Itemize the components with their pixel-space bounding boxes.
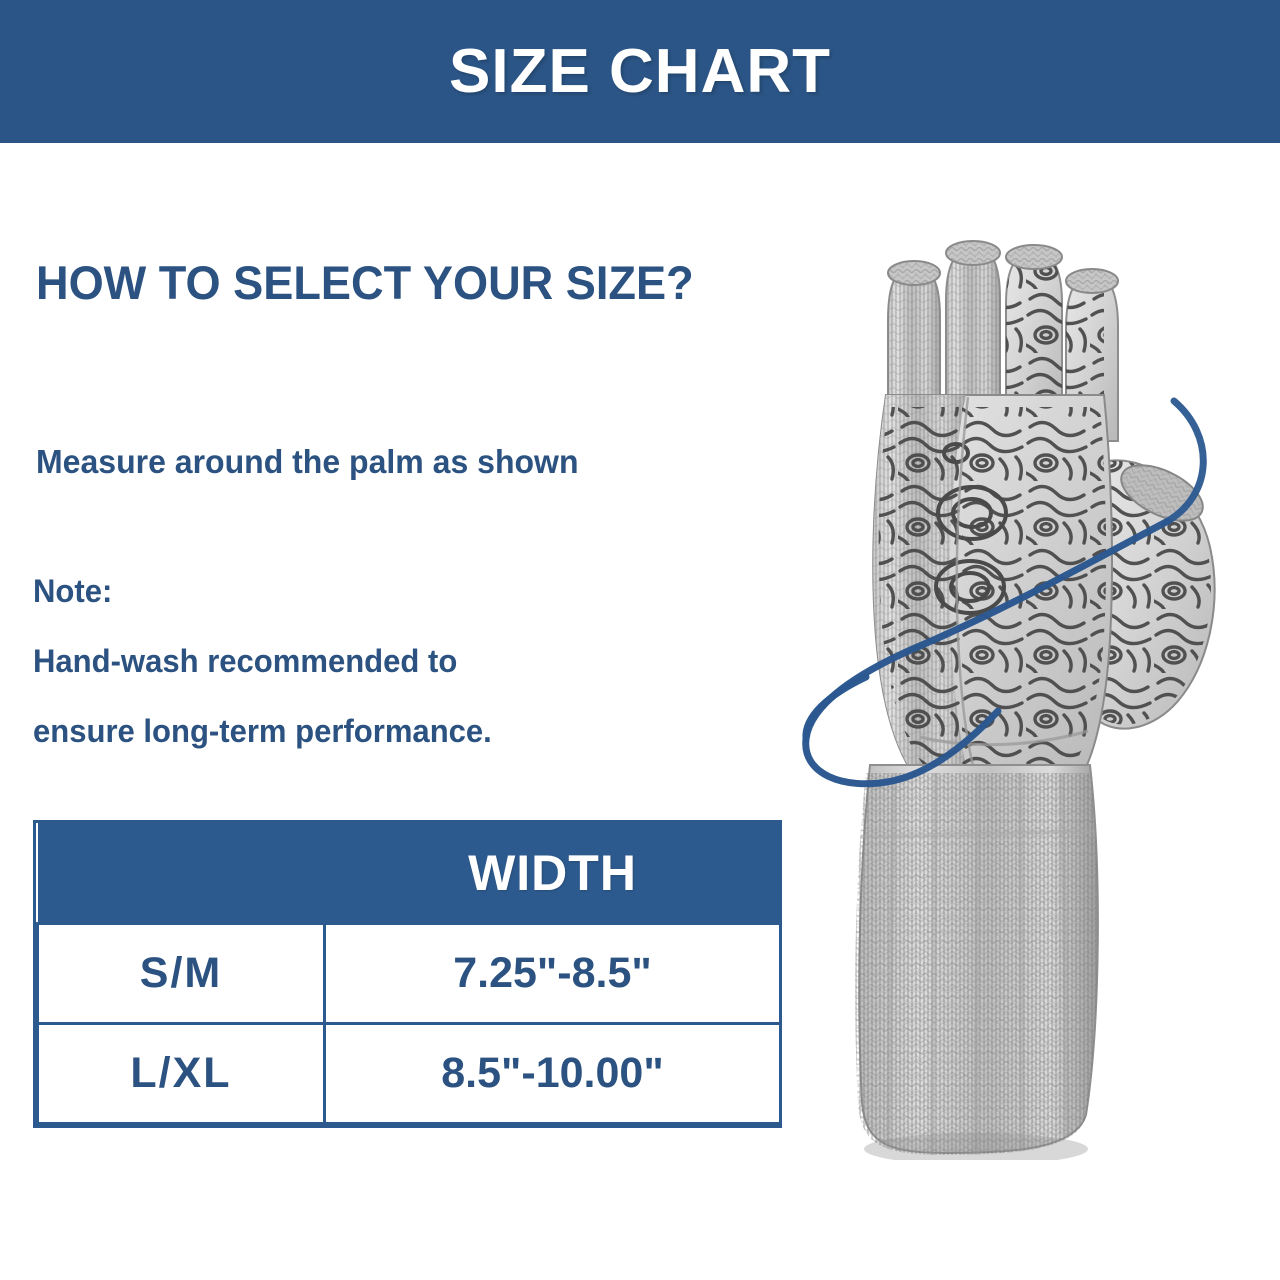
page-title: SIZE CHART: [449, 41, 831, 103]
note-line-2: ensure long-term performance.: [33, 715, 492, 747]
header-banner: SIZE CHART: [0, 0, 1280, 143]
note-block: Note: Hand-wash recommended to ensure lo…: [33, 575, 506, 747]
table-row: L/XL 8.5"-10.00": [38, 1024, 781, 1124]
glove-palm: [860, 385, 1130, 805]
table-row: S/M 7.25"-8.5": [38, 924, 781, 1024]
note-label: Note:: [33, 575, 492, 607]
size-label-sm: S/M: [38, 924, 325, 1024]
note-line-1: Hand-wash recommended to: [33, 645, 492, 677]
table-header-width-label: WIDTH: [325, 844, 781, 902]
table-header-width: WIDTH: [38, 823, 781, 924]
size-table: WIDTH S/M 7.25"-8.5" L/XL 8.5"-10.00": [33, 820, 782, 1128]
measure-instruction: Measure around the palm as shown: [36, 443, 579, 481]
table-header-row: WIDTH: [38, 823, 781, 924]
glove-cuff: [850, 755, 1110, 1160]
glove-illustration: HAND WIDTH: [770, 225, 1240, 1160]
size-label-lxl: L/XL: [38, 1024, 325, 1124]
section-heading: HOW TO SELECT YOUR SIZE?: [36, 255, 694, 310]
width-value-lxl: 8.5"-10.00": [325, 1024, 781, 1124]
glove-image: [770, 225, 1240, 1160]
width-value-sm: 7.25"-8.5": [325, 924, 781, 1024]
